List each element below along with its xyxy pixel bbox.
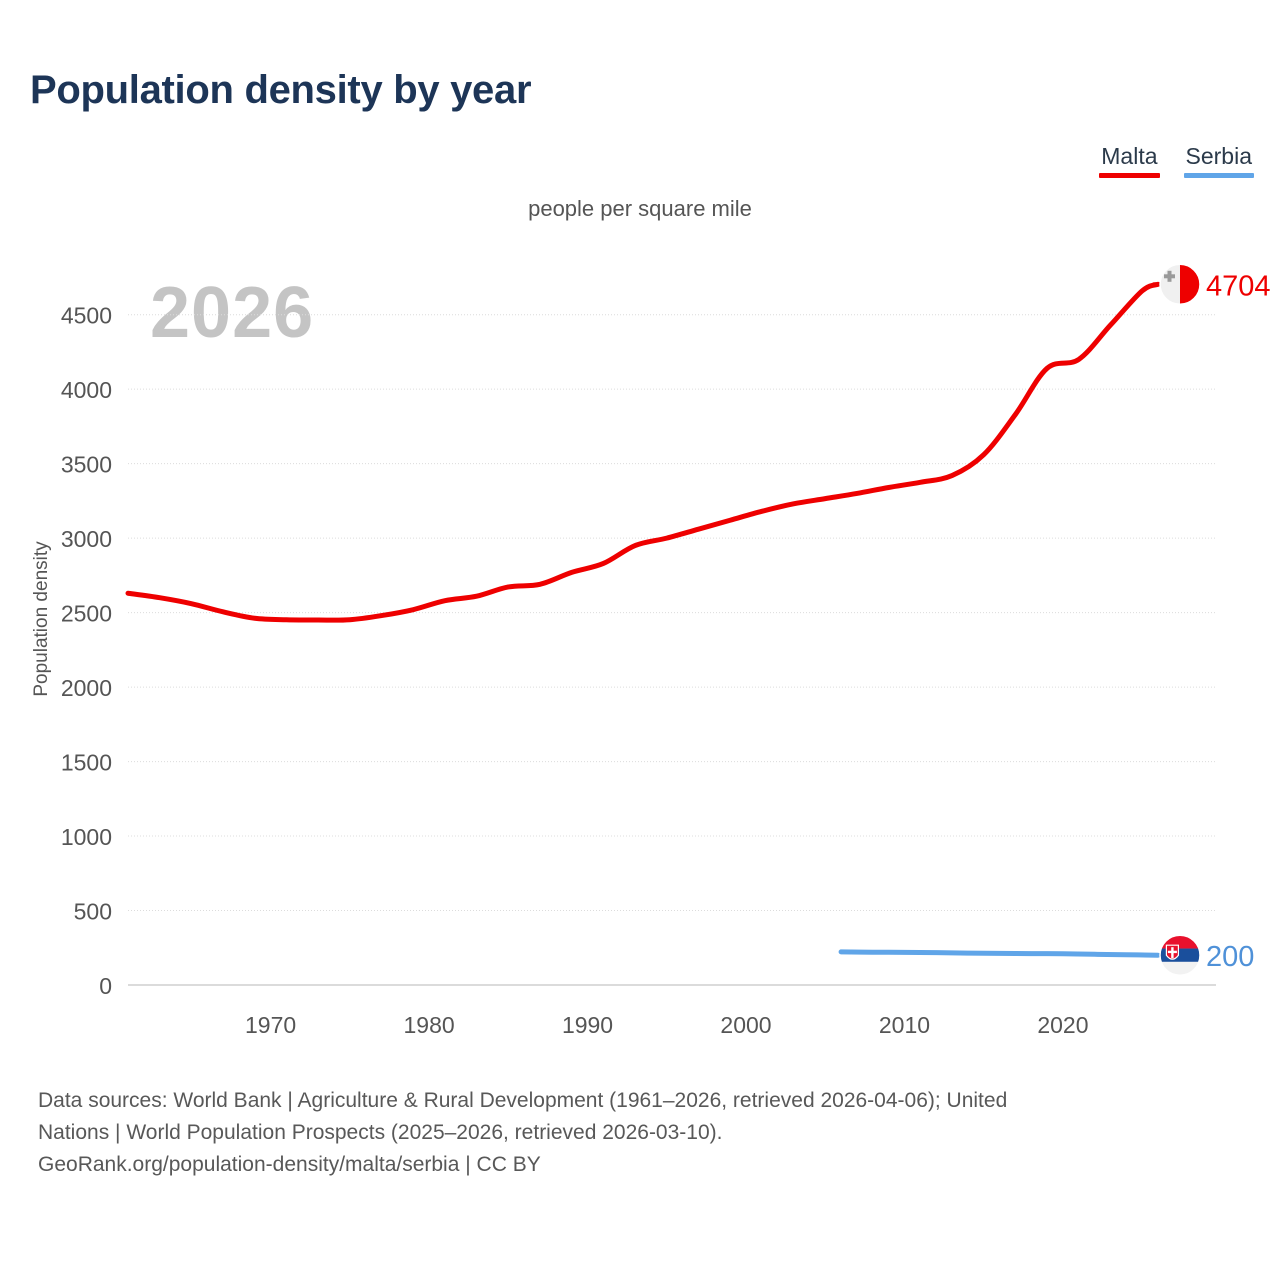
gridlines [128, 315, 1216, 985]
series-line-serbia [841, 952, 1158, 955]
plot-area: 050010001500200025003000350040004500 197… [0, 0, 1280, 1060]
footer-sources: Data sources: World Bank | Agriculture &… [38, 1085, 1253, 1181]
x-axis-tick-label: 1980 [403, 1012, 454, 1038]
footer-line-2: Nations | World Population Prospects (20… [38, 1117, 1253, 1149]
footer-line-3: GeoRank.org/population-density/malta/ser… [38, 1149, 1253, 1181]
series-lines [128, 284, 1158, 955]
x-axis-tick-label: 2010 [879, 1012, 930, 1038]
x-axis-tick-labels: 197019801990200020102020 [245, 1012, 1088, 1038]
malta-endpoint[interactable]: 4704 [1154, 264, 1271, 304]
endpoint-value-label: 200 [1206, 941, 1254, 973]
x-axis-tick-label: 2020 [1037, 1012, 1088, 1038]
series-line-malta [128, 284, 1158, 620]
y-axis-tick-label: 3000 [61, 526, 112, 552]
y-axis-tick-label: 1500 [61, 750, 112, 776]
y-axis-tick-label: 0 [99, 973, 112, 999]
y-axis-tick-label: 1000 [61, 824, 112, 850]
y-axis-tick-label: 2000 [61, 675, 112, 701]
chart-page: Population density by year Malta Serbia … [0, 0, 1280, 1280]
y-axis-tick-label: 500 [74, 899, 112, 925]
footer-line-1: Data sources: World Bank | Agriculture &… [38, 1085, 1253, 1117]
y-axis-tick-label: 2500 [61, 601, 112, 627]
serbia-endpoint[interactable]: 200 [1154, 935, 1254, 975]
y-axis-tick-labels: 050010001500200025003000350040004500 [61, 303, 112, 999]
x-axis-tick-label: 2000 [720, 1012, 771, 1038]
endpoint-value-label: 4704 [1206, 270, 1271, 302]
y-axis-tick-label: 4000 [61, 377, 112, 403]
y-axis-tick-label: 3500 [61, 452, 112, 478]
x-axis-tick-label: 1990 [562, 1012, 613, 1038]
x-axis-tick-label: 1970 [245, 1012, 296, 1038]
y-axis-tick-label: 4500 [61, 303, 112, 329]
